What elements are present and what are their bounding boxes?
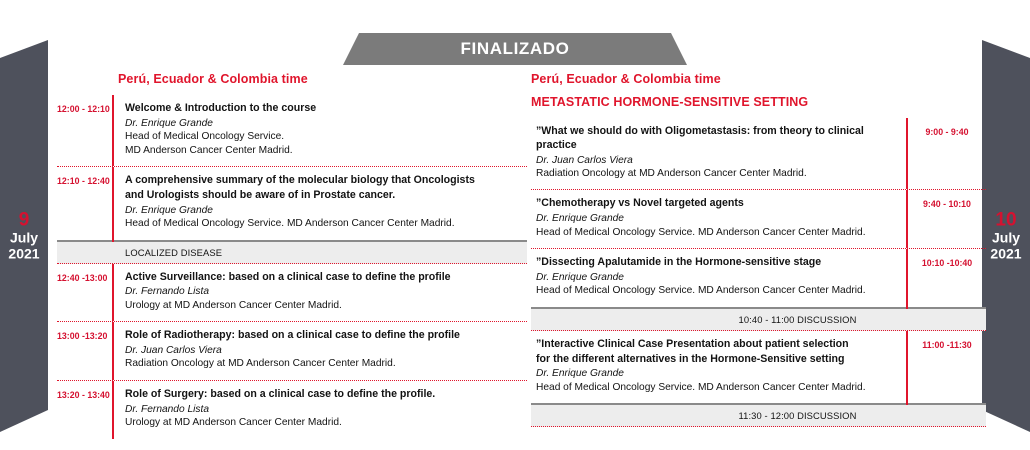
session-affiliation: Head of Medical Oncology Service. MD And… bbox=[125, 217, 523, 230]
session-content: ”What we should do with Oligometastasis:… bbox=[531, 118, 906, 189]
session-affiliation: Radiation Oncology at MD Anderson Cancer… bbox=[536, 167, 898, 180]
session-title: ”What we should do with Oligometastasis:… bbox=[536, 125, 898, 153]
session-list-right: ”What we should do with Oligometastasis:… bbox=[531, 118, 986, 427]
date-ribbon-left-content: 9 July 2021 bbox=[0, 210, 48, 263]
session-speaker: Dr. Juan Carlos Viera bbox=[536, 154, 898, 167]
timezone-label-left: Perú, Ecuador & Colombia time bbox=[118, 72, 527, 86]
session-time: 10:10 -10:40 bbox=[908, 249, 986, 307]
session-affiliation: Radiation Oncology at MD Anderson Cancer… bbox=[125, 357, 523, 370]
section-title-metastatic: METASTATIC HORMONE-SENSITIVE SETTING bbox=[531, 95, 986, 109]
session-time: 12:40 -13:00 bbox=[57, 264, 112, 322]
status-badge: FINALIZADO bbox=[461, 39, 570, 59]
session-title: ”Dissecting Apalutamide in the Hormone-s… bbox=[536, 256, 898, 270]
date-ribbon-right-content: 10 July 2021 bbox=[982, 210, 1030, 263]
session-title: A comprehensive summary of the molecular… bbox=[125, 174, 523, 188]
status-banner: FINALIZADO bbox=[343, 33, 687, 65]
agenda-column-day-9: Perú, Ecuador & Colombia time 12:00 - 12… bbox=[57, 72, 527, 439]
date-ribbon-left: 9 July 2021 bbox=[0, 40, 48, 432]
session-row[interactable]: ”What we should do with Oligometastasis:… bbox=[531, 118, 986, 190]
date-ribbon-left-day: 9 bbox=[0, 210, 48, 231]
session-affiliation: Head of Medical Oncology Service. MD And… bbox=[536, 381, 898, 394]
date-ribbon-right-day: 10 bbox=[982, 210, 1030, 231]
session-affiliation: MD Anderson Cancer Center Madrid. bbox=[125, 144, 523, 157]
session-time: 13:00 -13:20 bbox=[57, 322, 112, 380]
section-band-localized-disease: LOCALIZED DISEASE bbox=[57, 240, 527, 264]
accent-bar bbox=[112, 240, 114, 242]
session-row[interactable]: 12:00 - 12:10 Welcome & Introduction to … bbox=[57, 95, 527, 167]
session-row[interactable]: ”Chemotherapy vs Novel targeted agents D… bbox=[531, 190, 986, 249]
session-affiliation: Head of Medical Oncology Service. MD And… bbox=[536, 226, 898, 239]
session-title: Role of Radiotherapy: based on a clinica… bbox=[125, 329, 523, 343]
session-time: 11:00 -11:30 bbox=[908, 331, 986, 403]
discussion-band: 10:40 - 11:00 DISCUSSION bbox=[531, 307, 986, 331]
session-row[interactable]: 12:10 - 12:40 A comprehensive summary of… bbox=[57, 167, 527, 239]
accent-bar bbox=[906, 307, 908, 309]
session-speaker: Dr. Juan Carlos Viera bbox=[125, 344, 523, 357]
session-time: 12:00 - 12:10 bbox=[57, 95, 112, 166]
session-row[interactable]: ”Dissecting Apalutamide in the Hormone-s… bbox=[531, 249, 986, 307]
accent-bar bbox=[906, 403, 908, 405]
session-time: 13:20 - 13:40 bbox=[57, 381, 112, 439]
date-ribbon-left-month: July bbox=[0, 231, 48, 247]
session-row[interactable]: ”Interactive Clinical Case Presentation … bbox=[531, 331, 986, 403]
session-title: Active Surveillance: based on a clinical… bbox=[125, 271, 523, 285]
session-content: Role of Radiotherapy: based on a clinica… bbox=[125, 322, 527, 380]
session-speaker: Dr. Enrique Grande bbox=[536, 212, 898, 225]
date-ribbon-right-month: July bbox=[982, 231, 1030, 247]
session-title: for the different alternatives in the Ho… bbox=[536, 353, 898, 367]
session-content: Welcome & Introduction to the course Dr.… bbox=[125, 95, 527, 166]
session-time: 9:40 - 10:10 bbox=[908, 190, 986, 248]
discussion-label: 11:30 - 12:00 DISCUSSION bbox=[739, 410, 857, 421]
accent-bar bbox=[112, 264, 114, 322]
session-affiliation: Urology at MD Anderson Cancer Center Mad… bbox=[125, 416, 523, 429]
date-ribbon-right-year: 2021 bbox=[982, 247, 1030, 263]
session-title: ”Interactive Clinical Case Presentation … bbox=[536, 338, 898, 352]
discussion-label: 10:40 - 11:00 DISCUSSION bbox=[739, 314, 857, 325]
session-content: ”Dissecting Apalutamide in the Hormone-s… bbox=[531, 249, 906, 307]
timezone-label-right: Perú, Ecuador & Colombia time bbox=[531, 72, 986, 86]
session-content: Role of Surgery: based on a clinical cas… bbox=[125, 381, 527, 439]
session-speaker: Dr. Fernando Lista bbox=[125, 285, 523, 298]
date-ribbon-left-year: 2021 bbox=[0, 247, 48, 263]
agenda-canvas: 9 July 2021 10 July 2021 FINALIZADO Perú… bbox=[0, 0, 1030, 450]
session-title: ”Chemotherapy vs Novel targeted agents bbox=[536, 197, 898, 211]
session-speaker: Dr. Enrique Grande bbox=[536, 367, 898, 380]
session-time: 9:00 - 9:40 bbox=[908, 118, 986, 189]
session-time: 12:10 - 12:40 bbox=[57, 167, 112, 239]
session-content: Active Surveillance: based on a clinical… bbox=[125, 264, 527, 322]
accent-bar bbox=[112, 167, 114, 239]
accent-bar bbox=[112, 322, 114, 380]
session-title: and Urologists should be aware of in Pro… bbox=[125, 189, 523, 203]
discussion-band: 11:30 - 12:00 DISCUSSION bbox=[531, 403, 986, 427]
session-row[interactable]: 12:40 -13:00 Active Surveillance: based … bbox=[57, 264, 527, 323]
session-speaker: Dr. Enrique Grande bbox=[125, 117, 523, 130]
session-title: Welcome & Introduction to the course bbox=[125, 102, 523, 116]
session-affiliation: Head of Medical Oncology Service. bbox=[125, 130, 523, 143]
session-affiliation: Urology at MD Anderson Cancer Center Mad… bbox=[125, 299, 523, 312]
session-title: Role of Surgery: based on a clinical cas… bbox=[125, 388, 523, 402]
session-content: ”Chemotherapy vs Novel targeted agents D… bbox=[531, 190, 906, 248]
session-list-left: 12:00 - 12:10 Welcome & Introduction to … bbox=[57, 95, 527, 439]
section-band-label: LOCALIZED DISEASE bbox=[125, 247, 222, 258]
session-speaker: Dr. Enrique Grande bbox=[536, 271, 898, 284]
agenda-column-day-10: Perú, Ecuador & Colombia time METASTATIC… bbox=[531, 72, 986, 427]
session-content: A comprehensive summary of the molecular… bbox=[125, 167, 527, 239]
session-speaker: Dr. Fernando Lista bbox=[125, 403, 523, 416]
session-row[interactable]: 13:20 - 13:40 Role of Surgery: based on … bbox=[57, 381, 527, 439]
session-affiliation: Head of Medical Oncology Service. MD And… bbox=[536, 284, 898, 297]
accent-bar bbox=[112, 381, 114, 439]
session-content: ”Interactive Clinical Case Presentation … bbox=[531, 331, 906, 403]
accent-bar bbox=[112, 95, 114, 166]
date-ribbon-right: 10 July 2021 bbox=[982, 40, 1030, 432]
session-speaker: Dr. Enrique Grande bbox=[125, 204, 523, 217]
session-row[interactable]: 13:00 -13:20 Role of Radiotherapy: based… bbox=[57, 322, 527, 381]
